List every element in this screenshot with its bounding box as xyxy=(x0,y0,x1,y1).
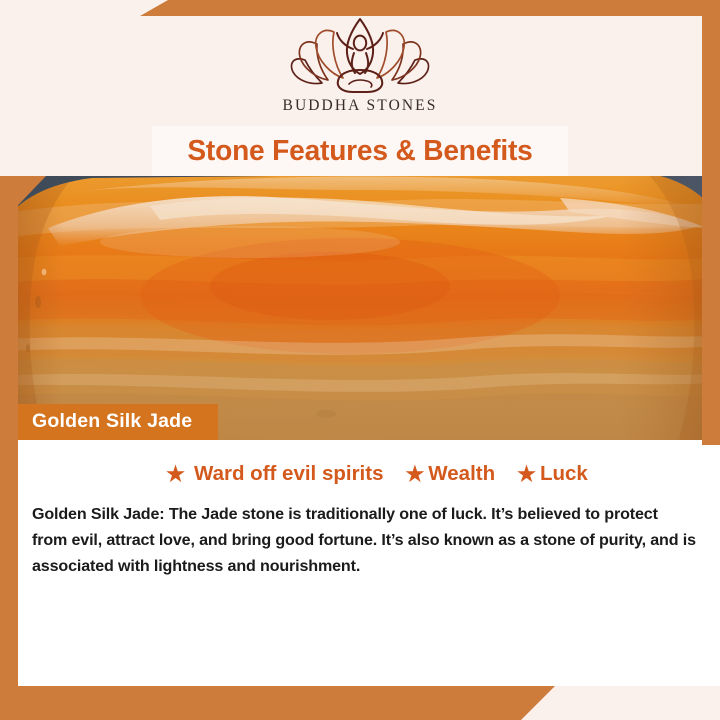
benefits-list: ★ Ward off evil spirits ★ Wealth ★ Luck xyxy=(32,462,698,486)
star-icon: ★ xyxy=(517,464,536,485)
brand-logo: BUDDHA STONES xyxy=(0,16,720,115)
frame-accent-bottom xyxy=(0,686,555,720)
brand-name: BUDDHA STONES xyxy=(283,97,438,115)
golden-silk-jade-stone-photo: Golden Silk Jade xyxy=(0,176,720,440)
frame-accent-top xyxy=(140,0,720,16)
benefit-item-luck: ★ Luck xyxy=(517,462,588,486)
benefit-item-ward-off-evil-spirits: ★ Ward off evil spirits xyxy=(166,462,383,486)
benefit-label: Ward off evil spirits xyxy=(194,462,383,486)
star-icon: ★ xyxy=(405,464,424,485)
benefit-label: Wealth xyxy=(428,462,495,486)
lotus-meditation-figure-icon xyxy=(287,16,433,94)
title-banner: Stone Features & Benefits xyxy=(152,126,568,176)
stone-description: Golden Silk Jade: The Jade stone is trad… xyxy=(32,502,696,579)
page-title: Stone Features & Benefits xyxy=(187,135,532,168)
benefit-label: Luck xyxy=(540,462,588,486)
frame-accent-left xyxy=(0,176,18,686)
product-infographic: BUDDHA STONES xyxy=(0,0,720,720)
content-section: ★ Ward off evil spirits ★ Wealth ★ Luck … xyxy=(18,440,720,686)
photo-caption: Golden Silk Jade xyxy=(18,404,218,440)
benefit-item-wealth: ★ Wealth xyxy=(405,462,495,486)
star-icon: ★ xyxy=(166,464,185,485)
frame-accent-right xyxy=(702,0,720,445)
